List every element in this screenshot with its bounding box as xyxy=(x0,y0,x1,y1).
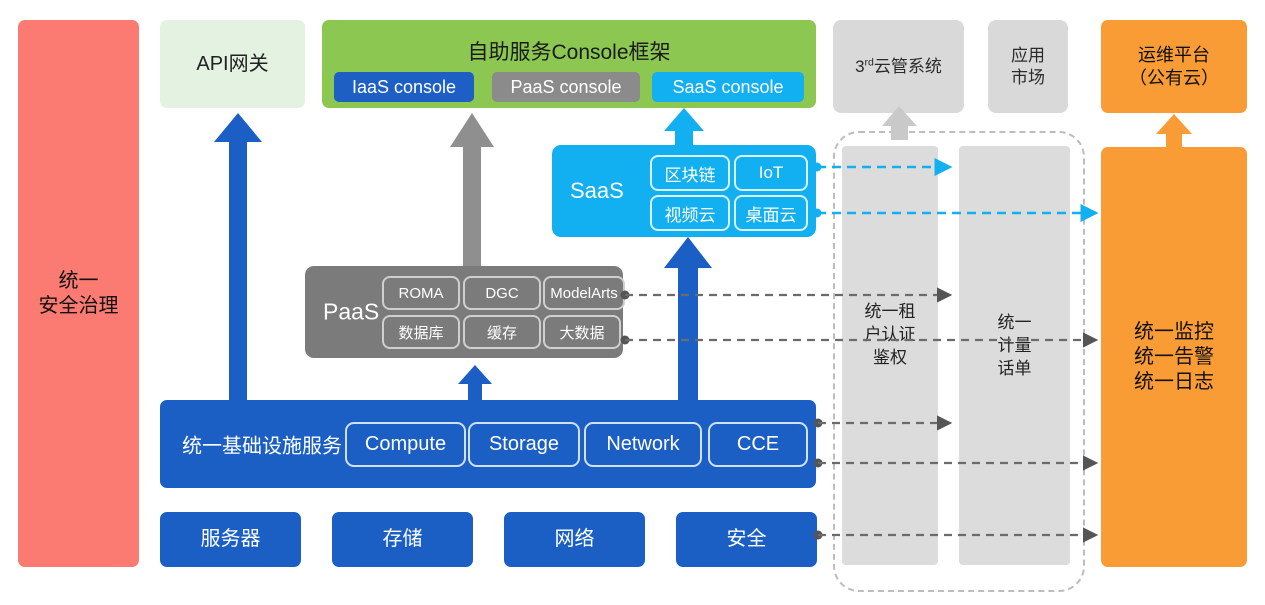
paas-chip-dgc-label: DGC xyxy=(485,285,518,302)
base-box-network[interactable]: 网络 xyxy=(504,512,645,567)
metering-line1: 统一 xyxy=(959,312,1070,335)
arrow-saas-to-console xyxy=(664,108,704,146)
saas-chip-iot[interactable]: IoT xyxy=(734,155,808,191)
iaas-console-button[interactable]: IaaS console xyxy=(334,72,474,102)
saas-chip-desktop-cloud[interactable]: 桌面云 xyxy=(734,195,808,231)
arrow-infra-to-paas xyxy=(458,365,492,400)
base-box-server[interactable]: 服务器 xyxy=(160,512,301,567)
ops-platform-top-panel[interactable]: 运维平台 （公有云） xyxy=(1101,20,1247,113)
unified-security-line2: 安全治理 xyxy=(39,294,119,319)
third-party-suffix: 云管系统 xyxy=(874,57,942,76)
infra-chip-storage-label: Storage xyxy=(489,433,559,456)
paas-chip-database-label: 数据库 xyxy=(398,322,443,343)
saas-chip-blockchain-label: 区块链 xyxy=(665,161,716,186)
iaas-console-label: IaaS console xyxy=(352,77,456,98)
arrow-to-ops-platform xyxy=(1156,114,1192,147)
unified-log-label: 统一日志 xyxy=(1134,370,1214,395)
third-party-prefix: 3 xyxy=(855,57,864,76)
app-market-panel[interactable]: 应用 市场 xyxy=(988,20,1068,113)
saas-chip-blockchain[interactable]: 区块链 xyxy=(650,155,730,191)
tenant-auth-line1: 统一租 xyxy=(842,301,938,324)
paas-chip-database[interactable]: 数据库 xyxy=(382,315,460,349)
third-party-cloud-mgmt-panel[interactable]: 3rd云管系统 xyxy=(833,20,964,113)
tenant-auth-line3: 鉴权 xyxy=(842,347,938,370)
saas-chip-video-cloud[interactable]: 视频云 xyxy=(650,195,730,231)
paas-label: PaaS xyxy=(323,299,379,326)
app-market-line2: 市场 xyxy=(1011,67,1045,88)
arrow-paas-to-console xyxy=(450,113,494,266)
paas-chip-roma-label: ROMA xyxy=(399,285,444,302)
third-party-sup: rd xyxy=(865,56,874,68)
ops-platform-line1: 运维平台 xyxy=(1138,44,1210,67)
infra-chip-compute[interactable]: Compute xyxy=(345,422,466,467)
infra-chip-compute-label: Compute xyxy=(365,433,446,456)
base-box-security[interactable]: 安全 xyxy=(676,512,817,567)
paas-chip-bigdata[interactable]: 大数据 xyxy=(543,315,621,349)
paas-chip-modelarts-label: ModelArts xyxy=(550,285,618,302)
saas-panel[interactable]: SaaS 区块链 IoT 视频云 桌面云 xyxy=(552,145,816,237)
infra-chip-cce-label: CCE xyxy=(737,433,779,456)
app-market-line1: 应用 xyxy=(1011,45,1045,66)
base-box-storage-label: 存储 xyxy=(383,527,423,552)
unified-infrastructure-label: 统一基础设施服务 xyxy=(182,430,342,459)
saas-console-button[interactable]: SaaS console xyxy=(652,72,804,102)
arrow-infra-to-api-gateway xyxy=(214,113,262,400)
base-box-server-label: 服务器 xyxy=(201,527,261,552)
paas-chip-roma[interactable]: ROMA xyxy=(382,276,460,310)
paas-console-button[interactable]: PaaS console xyxy=(492,72,640,102)
unified-metering-label: 统一 计量 话单 xyxy=(959,312,1070,381)
unified-alarm-label: 统一告警 xyxy=(1134,345,1214,370)
saas-chip-desktop-cloud-label: 桌面云 xyxy=(746,201,797,226)
saas-chip-iot-label: IoT xyxy=(759,163,784,183)
base-box-storage[interactable]: 存储 xyxy=(332,512,473,567)
paas-console-label: PaaS console xyxy=(510,77,621,98)
tenant-auth-line2: 户认证 xyxy=(842,324,938,347)
unified-security-panel[interactable]: 统一 安全治理 xyxy=(18,20,139,567)
infra-chip-storage[interactable]: Storage xyxy=(468,422,580,467)
unified-tenant-auth-label: 统一租 户认证 鉴权 xyxy=(842,301,938,370)
infra-chip-network[interactable]: Network xyxy=(584,422,702,467)
console-frame-title: 自助服务Console框架 xyxy=(322,36,816,66)
base-box-network-label: 网络 xyxy=(555,527,595,552)
arrow-infra-to-saas xyxy=(664,237,712,400)
paas-chip-dgc[interactable]: DGC xyxy=(463,276,541,310)
ops-platform-main-panel[interactable]: 统一监控 统一告警 统一日志 xyxy=(1101,147,1247,567)
infra-chip-network-label: Network xyxy=(606,433,679,456)
ops-platform-line2: （公有云） xyxy=(1129,67,1219,90)
unified-monitor-label: 统一监控 xyxy=(1134,320,1214,345)
unified-security-line1: 统一 xyxy=(59,269,99,294)
unified-infrastructure-bar[interactable]: 统一基础设施服务 Compute Storage Network CCE xyxy=(160,400,816,488)
base-box-security-label: 安全 xyxy=(727,527,767,552)
paas-chip-modelarts[interactable]: ModelArts xyxy=(543,276,625,310)
saas-console-label: SaaS console xyxy=(672,77,783,98)
paas-chip-cache[interactable]: 缓存 xyxy=(463,315,541,349)
paas-chip-cache-label: 缓存 xyxy=(487,322,517,343)
infra-chip-cce[interactable]: CCE xyxy=(708,422,808,467)
metering-line2: 计量 xyxy=(959,335,1070,358)
saas-chip-video-cloud-label: 视频云 xyxy=(665,201,716,226)
saas-label: SaaS xyxy=(570,178,624,204)
self-service-console-frame[interactable]: 自助服务Console框架 IaaS console PaaS console … xyxy=(322,20,816,108)
paas-chip-bigdata-label: 大数据 xyxy=(559,322,604,343)
api-gateway-label: API网关 xyxy=(196,52,268,77)
metering-line3: 话单 xyxy=(959,358,1070,381)
api-gateway-panel[interactable]: API网关 xyxy=(160,20,305,108)
paas-panel[interactable]: PaaS ROMA DGC ModelArts 数据库 缓存 大数据 xyxy=(305,266,623,358)
unified-metering-column[interactable]: 统一 计量 话单 xyxy=(959,146,1070,565)
third-party-cloud-mgmt-label: 3rd云管系统 xyxy=(855,56,942,77)
unified-tenant-auth-column[interactable]: 统一租 户认证 鉴权 xyxy=(842,146,938,565)
